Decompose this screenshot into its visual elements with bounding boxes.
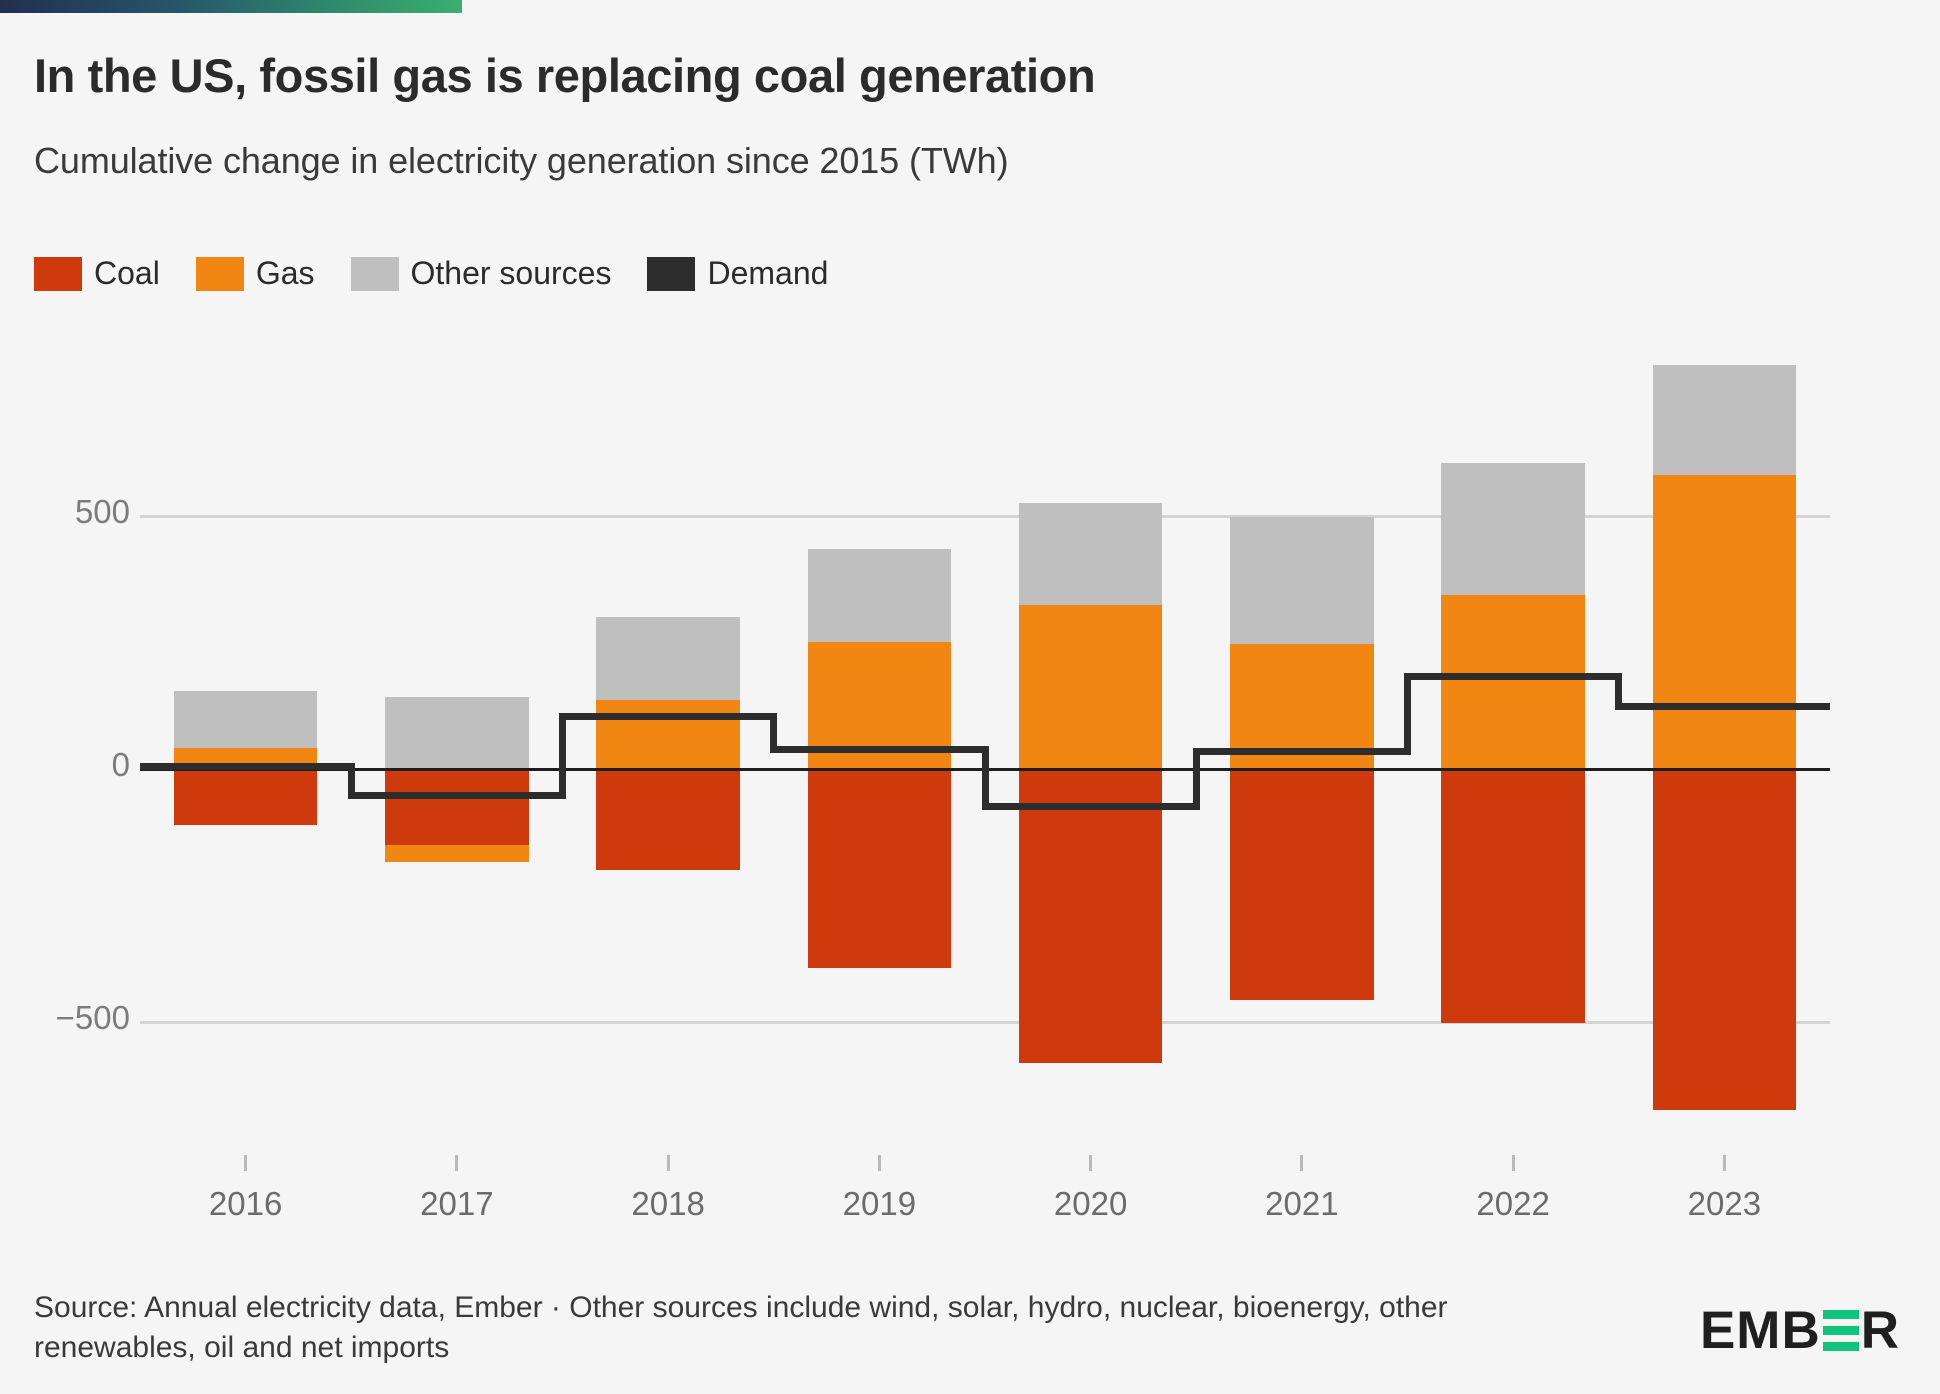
y-axis-tick-label: 0 — [0, 746, 130, 784]
bar-segment-gas — [1230, 644, 1374, 768]
bar-segment-coal — [385, 768, 529, 845]
chart-plot-area: 5000−50020162017201820192020202120222023 — [0, 0, 1940, 1394]
x-axis-tick-label: 2017 — [357, 1185, 557, 1223]
demand-line-segment — [1408, 673, 1619, 680]
page-title: In the US, fossil gas is replacing coal … — [34, 48, 1095, 103]
demand-line-riser — [1193, 748, 1200, 810]
bar-segment-coal — [1653, 768, 1797, 1110]
x-axis-tick-mark — [667, 1155, 670, 1171]
bar-segment-gas — [174, 748, 318, 768]
bar-segment-other-sources — [174, 691, 318, 748]
gridline — [140, 515, 1830, 518]
legend-item-gas: Gas — [196, 255, 315, 292]
page-subtitle: Cumulative change in electricity generat… — [34, 140, 1008, 182]
demand-line-segment — [351, 792, 562, 799]
demand-line-segment — [140, 763, 351, 770]
legend-label: Gas — [256, 255, 315, 292]
demand-line-segment — [774, 746, 985, 753]
demand-line-riser — [559, 713, 566, 799]
bar-segment-other-sources — [808, 549, 952, 642]
x-axis-tick-label: 2023 — [1624, 1185, 1824, 1223]
ember-logo: EMBR — [1700, 1300, 1900, 1361]
bar-segment-coal — [808, 768, 952, 968]
demand-line-riser — [1404, 673, 1411, 755]
bar-segment-other-sources — [1230, 517, 1374, 644]
legend-swatch-icon — [351, 257, 399, 291]
legend-label: Demand — [707, 255, 828, 292]
bar-segment-other-sources — [596, 617, 740, 700]
zero-axis-line — [140, 768, 1830, 771]
bar-segment-gas — [1441, 595, 1585, 768]
x-axis-tick-mark — [244, 1155, 247, 1171]
demand-line-segment — [563, 713, 774, 720]
x-axis-tick-label: 2022 — [1413, 1185, 1613, 1223]
brand-gradient-bar — [0, 0, 462, 13]
ember-logo-e-icon — [1823, 1310, 1859, 1351]
demand-line-segment — [985, 803, 1196, 810]
bar-segment-other-sources — [1653, 365, 1797, 475]
ember-logo-text-end: R — [1861, 1300, 1900, 1361]
bar-segment-coal — [174, 768, 318, 825]
gridline — [140, 1021, 1830, 1024]
x-axis-tick-label: 2020 — [991, 1185, 1191, 1223]
y-axis-tick-label: 500 — [0, 493, 130, 531]
bar-segment-other-sources — [1441, 463, 1585, 595]
bar-segment-gas — [808, 642, 952, 768]
bar-segment-coal — [596, 768, 740, 870]
bar-segment-gas — [596, 700, 740, 768]
x-axis-tick-mark — [1512, 1155, 1515, 1171]
bar-segment-gas — [385, 845, 529, 862]
bar-segment-other-sources — [385, 697, 529, 768]
x-axis-tick-mark — [1089, 1155, 1092, 1171]
chart-legend: CoalGasOther sourcesDemand — [34, 255, 864, 292]
demand-line-segment — [1619, 703, 1830, 710]
y-axis-tick-label: −500 — [0, 999, 130, 1037]
bar-segment-coal — [1019, 768, 1163, 1063]
bar-segment-coal — [1230, 768, 1374, 1000]
x-axis-tick-mark — [455, 1155, 458, 1171]
x-axis-tick-mark — [1723, 1155, 1726, 1171]
legend-item-coal: Coal — [34, 255, 160, 292]
x-axis-tick-mark — [878, 1155, 881, 1171]
demand-line-riser — [982, 746, 989, 810]
demand-line-riser — [770, 713, 777, 753]
legend-label: Other sources — [411, 255, 612, 292]
legend-swatch-icon — [34, 257, 82, 291]
legend-label: Coal — [94, 255, 160, 292]
legend-item-demand: Demand — [647, 255, 828, 292]
bar-segment-coal — [1441, 768, 1585, 1023]
ember-logo-text: EMB — [1700, 1300, 1821, 1361]
x-axis-tick-mark — [1300, 1155, 1303, 1171]
legend-swatch-icon — [196, 257, 244, 291]
legend-item-other-sources: Other sources — [351, 255, 612, 292]
bar-segment-gas — [1653, 475, 1797, 768]
x-axis-tick-label: 2019 — [779, 1185, 979, 1223]
demand-line-riser — [1615, 673, 1622, 709]
demand-line-segment — [1196, 748, 1407, 755]
bar-segment-gas — [1019, 605, 1163, 768]
bar-segment-other-sources — [1019, 503, 1163, 605]
legend-swatch-icon — [647, 257, 695, 291]
source-note: Source: Annual electricity data, Ember ·… — [34, 1288, 1554, 1367]
x-axis-tick-label: 2021 — [1202, 1185, 1402, 1223]
x-axis-tick-label: 2016 — [146, 1185, 346, 1223]
demand-line-riser — [348, 763, 355, 799]
x-axis-tick-label: 2018 — [568, 1185, 768, 1223]
